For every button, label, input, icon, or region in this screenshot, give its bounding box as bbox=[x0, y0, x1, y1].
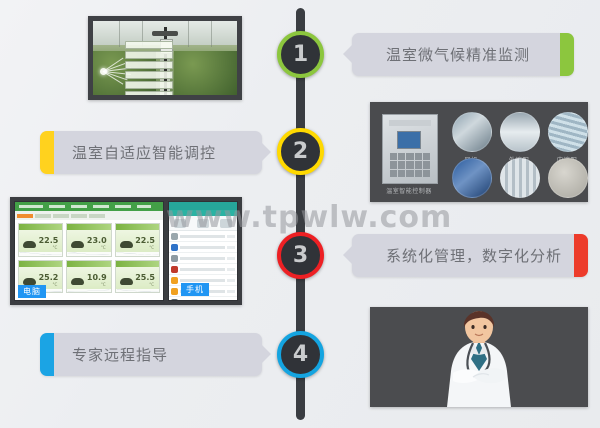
phone-dashboard[interactable]: 手机 bbox=[168, 201, 238, 301]
caption-text-4: 专家远程指导 bbox=[54, 344, 236, 365]
phone-icon-row[interactable] bbox=[169, 216, 237, 231]
sensor-unit: °C bbox=[149, 282, 154, 287]
weather-cloud-icon bbox=[23, 241, 36, 248]
weather-cloud-icon bbox=[120, 278, 133, 285]
phone-device-label: 手机 bbox=[181, 283, 209, 296]
wind-vane-icon bbox=[152, 31, 178, 36]
sensor-tile[interactable]: 22.5 °C bbox=[18, 223, 63, 257]
pill-accent-cap-2 bbox=[40, 131, 54, 174]
list-item[interactable] bbox=[169, 297, 237, 301]
device-thumb-water-pump[interactable]: 水泵 bbox=[452, 158, 490, 202]
caption-pill-3[interactable]: 系统化管理，数字化分析 bbox=[352, 234, 588, 277]
device-thumb-curtain[interactable]: 遮帘 bbox=[548, 158, 586, 202]
controller-cabinet bbox=[382, 114, 438, 184]
sensor-trend-chart bbox=[67, 289, 110, 293]
controller-label: 温室智能控制器 bbox=[376, 186, 442, 195]
internal-shade-thumbnail-icon bbox=[548, 112, 588, 152]
remote-expert-photo[interactable] bbox=[370, 307, 588, 407]
infographic-canvas: 1 2 3 4 温室微气候精准监测 温室自适应智能调控 系统化管理，数字化分析 … bbox=[0, 0, 600, 428]
sensor-unit: °C bbox=[53, 282, 58, 287]
device-thumb-internal-shade[interactable]: 内遮阳 bbox=[548, 112, 586, 164]
sensor-unit: °C bbox=[101, 282, 106, 287]
water-pump-thumbnail-icon bbox=[452, 158, 492, 198]
fan-thumbnail-icon bbox=[452, 112, 492, 152]
pill-notch-icon-3 bbox=[343, 245, 353, 265]
caption-pill-4[interactable]: 专家远程指导 bbox=[40, 333, 262, 376]
step-number-4: 4 bbox=[293, 344, 308, 366]
step-node-3[interactable]: 3 bbox=[277, 232, 324, 279]
greenhouse-scene bbox=[93, 21, 237, 95]
pill-notch-icon-4 bbox=[261, 344, 271, 364]
weather-cloud-icon bbox=[71, 241, 84, 248]
crop-rows-right bbox=[174, 51, 237, 95]
step-number-2: 2 bbox=[293, 141, 308, 163]
list-item[interactable] bbox=[169, 231, 237, 242]
pc-dashboard[interactable]: 22.5 °C 23.0 °C bbox=[14, 201, 164, 301]
sensor-unit: °C bbox=[53, 245, 58, 250]
pill-accent-cap-1 bbox=[560, 33, 574, 76]
sensor-trend-chart bbox=[116, 289, 159, 293]
pill-notch-icon-2 bbox=[261, 142, 271, 162]
weather-cloud-icon bbox=[71, 278, 84, 285]
dashboard-screens-photo[interactable]: 22.5 °C 23.0 °C bbox=[10, 197, 242, 305]
caption-pill-1[interactable]: 温室微气候精准监测 bbox=[352, 33, 574, 76]
weather-cloud-icon bbox=[120, 241, 133, 248]
sensor-tile[interactable]: 25.5 °C bbox=[115, 260, 160, 294]
sensor-value: 25.5 bbox=[135, 274, 155, 282]
sensor-unit: °C bbox=[149, 245, 154, 250]
dashboard-tabs[interactable] bbox=[15, 211, 163, 220]
step-number-1: 1 bbox=[293, 44, 308, 66]
step-number-3: 3 bbox=[293, 245, 308, 267]
controller-keypad bbox=[390, 153, 430, 177]
sensor-value: 25.2 bbox=[39, 274, 59, 282]
caption-text-1: 温室微气候精准监测 bbox=[378, 44, 560, 65]
list-item[interactable] bbox=[169, 253, 237, 264]
pc-device-label: 电脑 bbox=[18, 285, 46, 298]
greenhouse-controller-photo[interactable]: 温室智能控制器 风机 外遮阳 内遮阳 水泵 侧窗 bbox=[370, 102, 588, 202]
weather-cloud-icon bbox=[23, 278, 36, 285]
sensor-unit: °C bbox=[101, 245, 106, 250]
step-node-2[interactable]: 2 bbox=[277, 128, 324, 175]
sensor-value: 22.5 bbox=[39, 237, 59, 245]
dashboard-topbar bbox=[15, 202, 163, 211]
list-item[interactable] bbox=[169, 242, 237, 253]
caption-text-2: 温室自适应智能调控 bbox=[54, 142, 236, 163]
step-node-4[interactable]: 4 bbox=[277, 331, 324, 378]
phone-statusbar bbox=[169, 202, 237, 210]
pill-notch-icon-1 bbox=[343, 44, 353, 64]
side-window-thumbnail-icon bbox=[500, 158, 540, 198]
external-shade-thumbnail-icon bbox=[500, 112, 540, 152]
caption-pill-2[interactable]: 温室自适应智能调控 bbox=[40, 131, 262, 174]
step-node-1[interactable]: 1 bbox=[277, 31, 324, 78]
sensor-value: 10.9 bbox=[87, 274, 107, 282]
expert-doctor-illustration bbox=[433, 311, 525, 407]
list-item[interactable] bbox=[169, 264, 237, 275]
device-label-water-pump: 水泵 bbox=[452, 200, 490, 202]
sensor-tile[interactable]: 10.9 °C bbox=[66, 260, 111, 294]
device-thumb-external-shade[interactable]: 外遮阳 bbox=[500, 112, 538, 164]
pill-accent-cap-4 bbox=[40, 333, 54, 376]
controller-screen bbox=[397, 131, 421, 149]
device-label-side-window: 侧窗 bbox=[500, 200, 538, 202]
curtain-thumbnail-icon bbox=[548, 158, 588, 198]
sensor-trend-chart bbox=[67, 252, 110, 256]
sensor-tile[interactable]: 23.0 °C bbox=[66, 223, 111, 257]
sensor-tile[interactable]: 22.5 °C bbox=[115, 223, 160, 257]
sensor-value: 23.0 bbox=[87, 237, 107, 245]
pill-accent-cap-3 bbox=[574, 234, 588, 277]
device-thumb-fan[interactable]: 风机 bbox=[452, 112, 490, 164]
device-thumb-side-window[interactable]: 侧窗 bbox=[500, 158, 538, 202]
sensor-trend-chart bbox=[19, 252, 62, 256]
caption-text-3: 系统化管理，数字化分析 bbox=[378, 245, 574, 266]
sensor-value: 22.5 bbox=[135, 237, 155, 245]
sensor-trend-chart bbox=[116, 252, 159, 256]
greenhouse-monitoring-photo[interactable] bbox=[88, 16, 242, 100]
device-label-curtain: 遮帘 bbox=[548, 200, 586, 202]
